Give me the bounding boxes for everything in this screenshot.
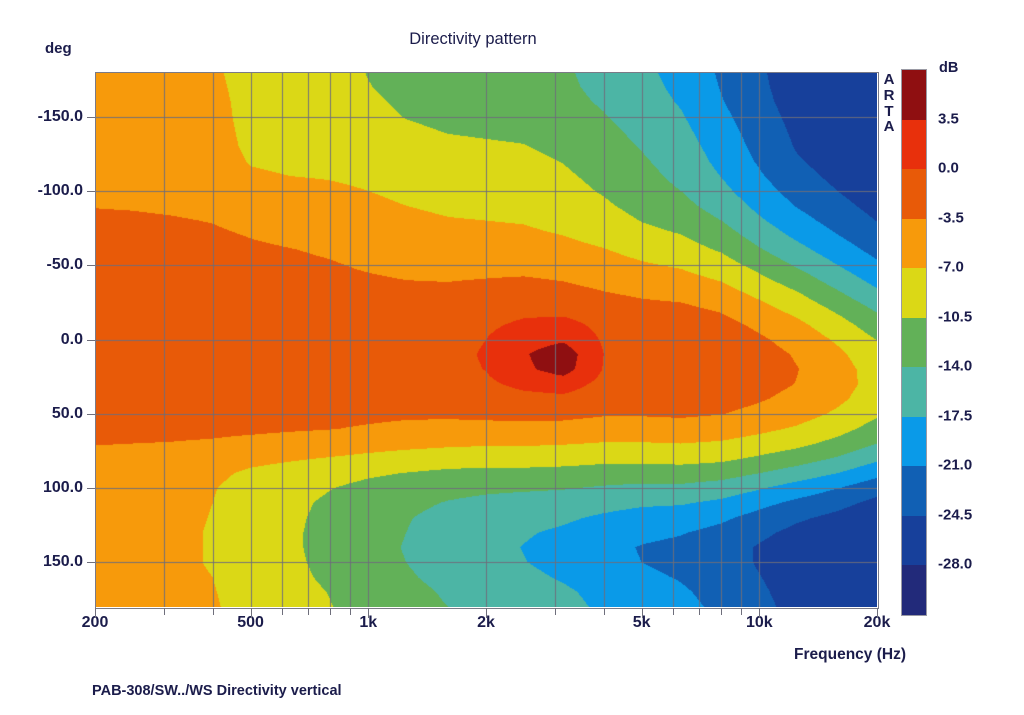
x-minor-tick-mark: [699, 608, 700, 615]
y-tick-label: 150.0: [43, 553, 83, 571]
x-tick-mark: [642, 608, 643, 618]
watermark-letter: A: [880, 119, 898, 135]
colorbar-tick-label: -14.0: [938, 358, 972, 375]
colorbar-band: [902, 120, 926, 170]
watermark-letter: R: [880, 88, 898, 104]
page-title: Directivity pattern: [0, 30, 1024, 49]
x-tick-mark: [759, 608, 760, 618]
arta-watermark: ARTA: [880, 72, 898, 135]
x-tick-mark: [95, 608, 96, 618]
y-tick-mark: [87, 488, 95, 489]
colorbar-band: [902, 367, 926, 417]
x-minor-tick-mark: [213, 608, 214, 615]
x-minor-tick-mark: [721, 608, 722, 615]
x-minor-tick-mark: [164, 608, 165, 615]
colorbar-band: [902, 565, 926, 615]
colorbar-tick-label: 3.5: [938, 110, 959, 127]
y-tick-mark: [87, 265, 95, 266]
x-minor-tick-mark: [555, 608, 556, 615]
colorbar-tick-label: -17.5: [938, 407, 972, 424]
x-tick-mark: [486, 608, 487, 618]
colorbar-band: [902, 516, 926, 566]
colorbar-band: [902, 169, 926, 219]
colorbar-tick-label: -10.5: [938, 308, 972, 325]
y-tick-mark: [87, 562, 95, 563]
y-tick-label: 0.0: [61, 331, 83, 349]
x-minor-tick-mark: [308, 608, 309, 615]
colorbar-tick-label: -3.5: [938, 209, 964, 226]
y-tick-mark: [87, 340, 95, 341]
x-minor-tick-mark: [350, 608, 351, 615]
y-tick-mark: [87, 191, 95, 192]
x-axis-title: Frequency (Hz): [794, 646, 906, 664]
watermark-letter: A: [880, 72, 898, 88]
directivity-chart-page: Directivity pattern deg -150.0-100.0-50.…: [0, 0, 1024, 715]
x-minor-tick-mark: [604, 608, 605, 615]
colorbar-tick-label: -24.5: [938, 506, 972, 523]
colorbar-band: [902, 70, 926, 120]
y-tick-label: 50.0: [52, 405, 83, 423]
directivity-heatmap: [95, 72, 877, 607]
y-tick-label: -150.0: [38, 108, 83, 126]
colorbar-tick-label: -28.0: [938, 556, 972, 573]
y-tick-mark: [87, 117, 95, 118]
colorbar-band: [902, 219, 926, 269]
colorbar-band: [902, 466, 926, 516]
measurement-caption: PAB-308/SW../WS Directivity vertical: [92, 683, 342, 699]
x-tick-mark: [368, 608, 369, 618]
colorbar-tick-label: 0.0: [938, 160, 959, 177]
x-tick-mark: [251, 608, 252, 618]
watermark-letter: T: [880, 104, 898, 120]
y-axis-labels: -150.0-100.0-50.00.050.0100.0150.0: [0, 0, 83, 715]
colorbar-band: [902, 268, 926, 318]
y-tick-label: 100.0: [43, 479, 83, 497]
y-tick-label: -100.0: [38, 182, 83, 200]
colorbar-tick-label: -7.0: [938, 259, 964, 276]
y-tick-label: -50.0: [47, 256, 83, 274]
colorbar-title: dB: [939, 60, 958, 76]
colorbar: [901, 69, 927, 616]
colorbar-tick-label: -21.0: [938, 457, 972, 474]
x-minor-tick-mark: [741, 608, 742, 615]
x-tick-mark: [877, 608, 878, 618]
x-minor-tick-mark: [330, 608, 331, 615]
x-minor-tick-mark: [673, 608, 674, 615]
colorbar-band: [902, 417, 926, 467]
x-minor-tick-mark: [282, 608, 283, 615]
colorbar-band: [902, 318, 926, 368]
chart-title-text: Directivity pattern: [409, 30, 536, 49]
y-tick-mark: [87, 414, 95, 415]
